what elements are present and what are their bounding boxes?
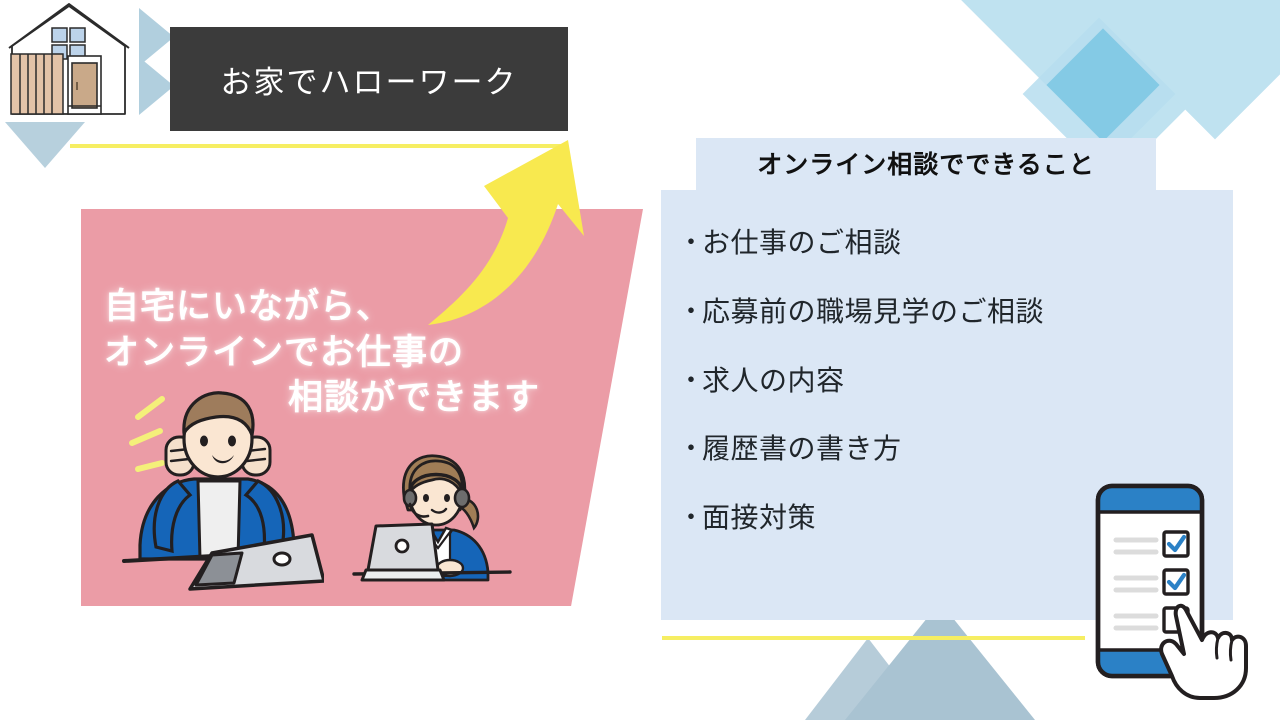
decor-triangle-right-lower [139, 57, 174, 115]
list-item-label: 求人の内容 [702, 366, 845, 397]
list-item: ・ お仕事のご相談 [678, 228, 1208, 259]
bullet-marker-icon: ・ [678, 503, 702, 533]
bullet-marker-icon: ・ [678, 434, 702, 464]
list-item-label: 面接対策 [702, 503, 816, 534]
pink-line-1: 自宅にいながら、 [104, 284, 574, 330]
slide-canvas: お家でハローワーク 自宅にいながら、 オンラインでお仕事の 相談ができます [0, 0, 1280, 720]
list-item: ・ 求人の内容 [678, 366, 1208, 397]
list-item-label: お仕事のご相談 [702, 228, 902, 259]
list-item-label: 応募前の職場見学のご相談 [702, 297, 1044, 328]
bullet-marker-icon: ・ [678, 297, 702, 327]
woman-with-headset-at-laptop-illustration [352, 448, 512, 588]
list-item: ・ 履歴書の書き方 [678, 434, 1208, 465]
bullet-marker-icon: ・ [678, 228, 702, 258]
man-celebrating-at-laptop-illustration [116, 385, 324, 600]
list-item-label: 履歴書の書き方 [702, 434, 902, 465]
banner-title-text: お家でハローワーク [221, 57, 518, 102]
house-icon [6, 2, 142, 126]
divider-yellow-right [662, 636, 1085, 640]
blue-panel-heading: オンライン相談でできること [696, 145, 1156, 181]
title-banner: お家でハローワーク [170, 27, 568, 131]
pink-line-2: オンラインでお仕事の [104, 330, 574, 376]
smartphone-checklist-with-pointing-hand-illustration [1090, 478, 1270, 703]
list-item: ・ 応募前の職場見学のご相談 [678, 297, 1208, 328]
bullet-marker-icon: ・ [678, 366, 702, 396]
